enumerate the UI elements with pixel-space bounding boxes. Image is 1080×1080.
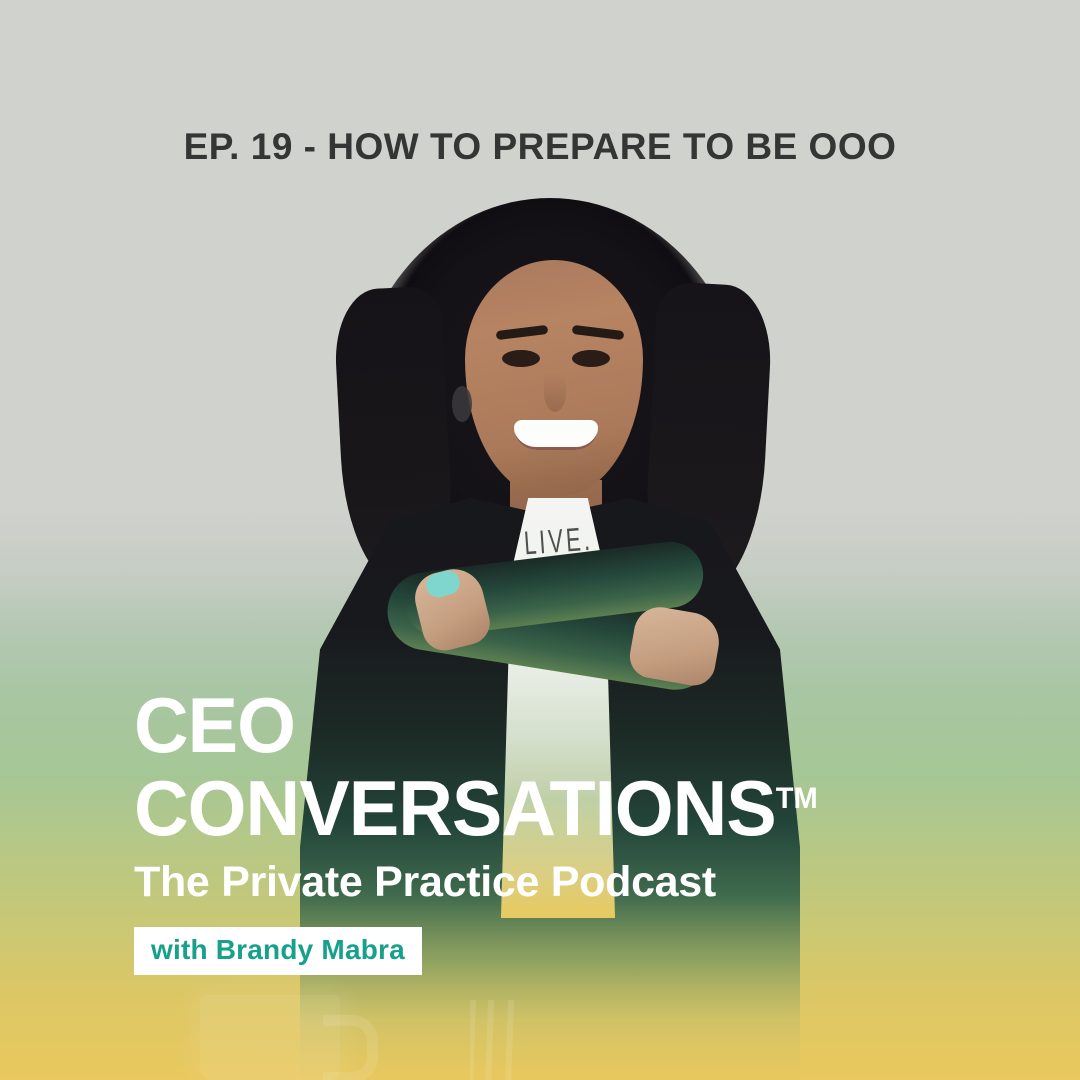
episode-title: EP. 19 - HOW TO PREPARE TO BE OOO	[0, 126, 1080, 168]
brand-line-2-text: CONVERSATIONS	[134, 764, 776, 852]
eye-left	[502, 350, 540, 367]
podcast-cover: EP. 19 - HOW TO PREPARE TO BE OOO LIVE. …	[0, 0, 1080, 1080]
pens-icon	[470, 1000, 540, 1080]
host-badge: with Brandy Mabra	[134, 927, 422, 975]
trademark-symbol: TM	[776, 782, 818, 815]
eye-right	[572, 350, 610, 367]
brand-subtitle: The Private Practice Podcast	[134, 857, 974, 907]
nose-shape	[544, 374, 566, 412]
mug-icon	[200, 995, 340, 1080]
brand-line-2: CONVERSATIONSTM	[134, 762, 949, 845]
earring-icon	[452, 386, 472, 422]
brand-line-1: CEO	[134, 688, 949, 762]
smile-shape	[514, 420, 598, 450]
brand-block: CEO CONVERSATIONSTM The Private Practice…	[134, 688, 974, 975]
